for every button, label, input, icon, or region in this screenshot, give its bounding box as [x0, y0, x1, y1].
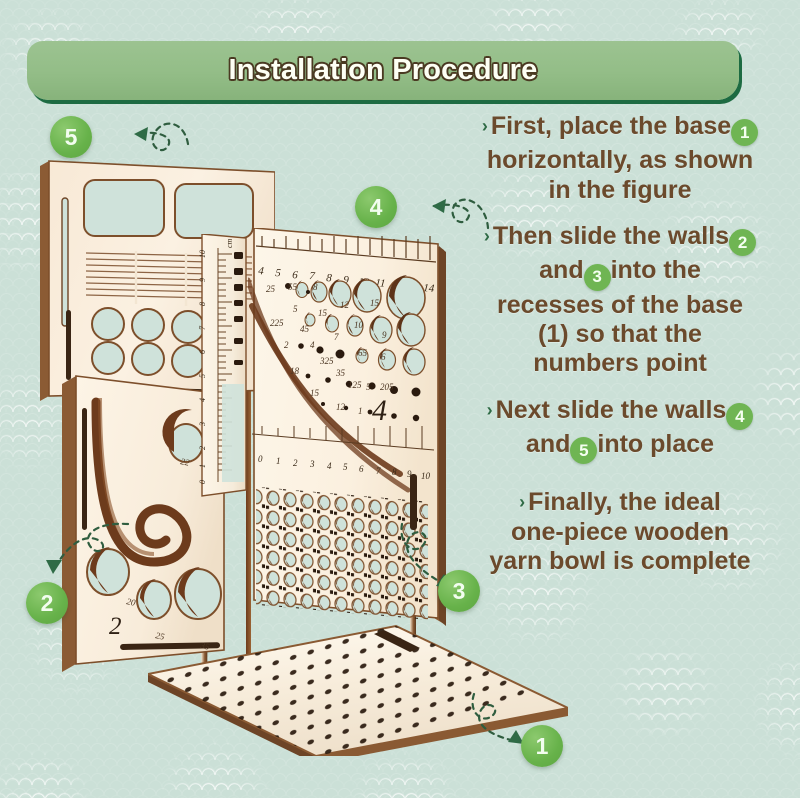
- step-3-text-c: into place: [597, 430, 714, 458]
- inline-badge-3: 3: [584, 264, 611, 291]
- chevron-icon: ›: [482, 116, 488, 136]
- instruction-list: ›First, place the base1 horizontally, as…: [450, 112, 790, 593]
- instruction-step-3: ›Next slide the walls4 and5into place: [450, 396, 790, 465]
- chevron-icon: ›: [519, 492, 525, 512]
- step-1-text-a: First, place the base: [491, 112, 731, 140]
- step-4-text-c: yarn bowl is complete: [489, 547, 750, 575]
- step-2-text-c: into the: [611, 256, 701, 284]
- step-3-text-b: and: [526, 430, 570, 458]
- step-2-text-e: (1) so that the: [538, 320, 702, 348]
- callout-badge-1[interactable]: 1: [521, 725, 563, 767]
- callout-badge-3-label: 3: [453, 578, 466, 605]
- callout-badge-4[interactable]: 4: [355, 186, 397, 228]
- callout-badge-5[interactable]: 5: [50, 116, 92, 158]
- step-4-text-a: Finally, the ideal: [528, 488, 721, 516]
- callout-badge-1-label: 1: [536, 733, 549, 760]
- instruction-step-2: ›Then slide the walls2 and3into the rece…: [450, 222, 790, 379]
- chevron-icon: ›: [487, 400, 493, 420]
- step-2-text-f: numbers point: [533, 349, 707, 377]
- callout-badge-5-label: 5: [65, 124, 78, 151]
- callout-badge-2-label: 2: [41, 590, 54, 617]
- inline-badge-5: 5: [570, 437, 597, 464]
- inline-badge-4: 4: [726, 403, 753, 430]
- step-2-text-a: Then slide the walls: [493, 222, 729, 250]
- callout-badge-2[interactable]: 2: [26, 582, 68, 624]
- step-2-text-b: and: [539, 256, 583, 284]
- chevron-icon: ›: [484, 226, 490, 246]
- inline-badge-1: 1: [731, 119, 758, 146]
- page-title: Installation Procedure: [229, 54, 538, 87]
- callout-badge-3[interactable]: 3: [438, 570, 480, 612]
- inline-badge-2: 2: [729, 229, 756, 256]
- callout-badge-4-label: 4: [370, 194, 383, 221]
- step-4-text-b: one-piece wooden: [511, 518, 729, 546]
- step-1-text-b: horizontally, as shown: [487, 146, 753, 174]
- instruction-step-1: ›First, place the base1 horizontally, as…: [450, 112, 790, 205]
- instruction-step-4: ›Finally, the ideal one-piece wooden yar…: [450, 488, 790, 576]
- step-2-text-d: recesses of the base: [497, 291, 743, 319]
- header-banner: Installation Procedure: [27, 41, 739, 100]
- step-3-text-a: Next slide the walls: [496, 396, 727, 424]
- step-1-text-c: in the figure: [548, 176, 691, 204]
